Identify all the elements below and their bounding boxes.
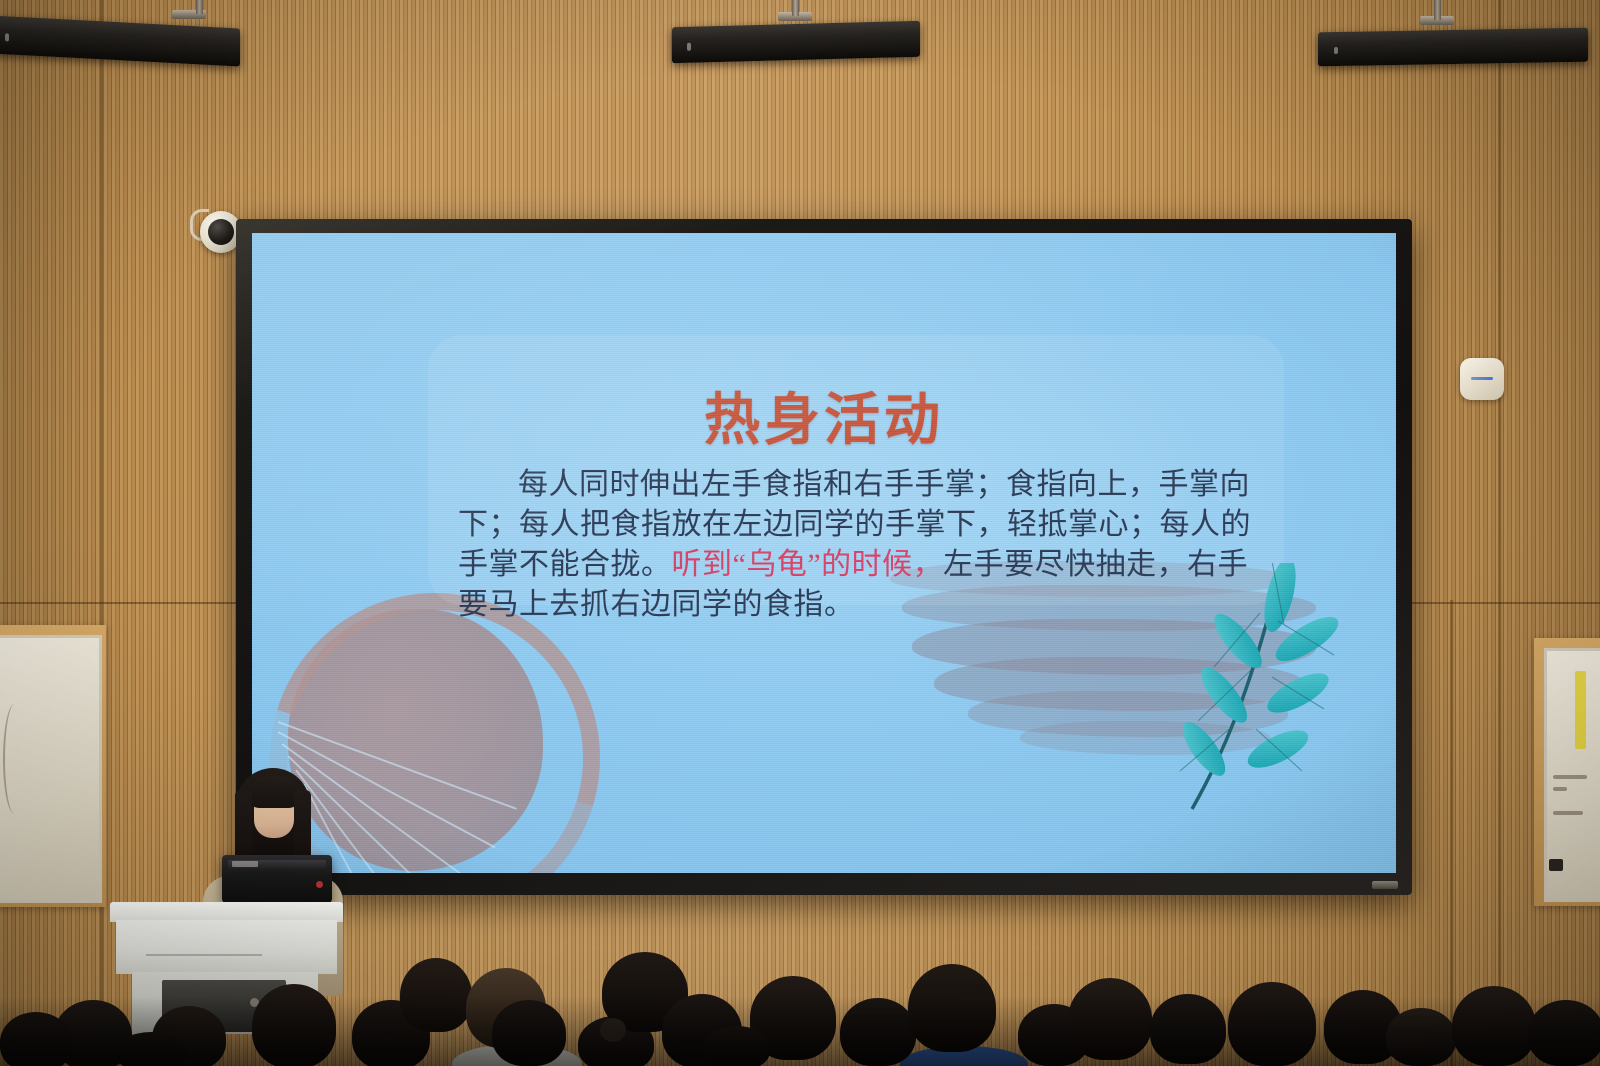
audience-head — [116, 1032, 186, 1066]
lecture-hall-photo: 热身活动 每人同时伸出左手食指和右手手掌；食指向上，手掌向下；每人把食指放在左边… — [0, 0, 1600, 1066]
whiteboard-left-surface — [0, 635, 102, 903]
projection-screen-bezel: 热身活动 每人同时伸出左手食指和右手手掌；食指向上，手掌向下；每人把食指放在左边… — [236, 219, 1412, 895]
lectern-panel-line — [146, 954, 262, 956]
audience-head — [1386, 1008, 1456, 1066]
audience-head — [0, 1012, 72, 1066]
audience-head — [704, 1026, 770, 1066]
poster-text-line — [1553, 775, 1587, 779]
slide-body-line-3c: 左手要尽快 — [943, 548, 1096, 581]
audience-head — [1150, 994, 1226, 1064]
poster-yellow-strip — [1575, 671, 1586, 749]
audience-head — [908, 964, 996, 1052]
audience-head — [840, 998, 916, 1066]
ceiling-light-right — [1318, 28, 1588, 67]
ceiling-rod-left — [196, 0, 203, 14]
slide-body-highlight: 听到“乌龟”的时候， — [672, 548, 944, 581]
ceiling-rod-center — [792, 0, 799, 16]
ceiling-rod-right — [1434, 0, 1441, 20]
slide-body-text: 每人同时伸出左手食指和右手手掌；食指向上，手掌向下；每人把食指放在左边同学的手掌… — [458, 465, 1270, 625]
framed-poster-surface — [1544, 648, 1600, 902]
wireless-access-point-icon — [1460, 358, 1504, 400]
whiteboard-marking — [3, 704, 31, 814]
slide-body-line-1: 每人同时伸出左手食指和右手手掌；食指向上，手 — [518, 468, 1189, 501]
wall-vertical-seam-right — [1498, 0, 1501, 1066]
presenter-hair-front — [248, 776, 300, 808]
poster-text-line — [1553, 787, 1567, 791]
lectern-top — [110, 902, 343, 922]
audience-head — [492, 1000, 566, 1066]
wall-vertical-seam-right2 — [1450, 600, 1453, 1066]
slide-title: 热身活动 — [252, 375, 1396, 456]
poster-tab — [1549, 859, 1563, 871]
whiteboard-left — [0, 625, 106, 907]
poster-text-line — [1553, 811, 1583, 815]
audience-head — [400, 958, 472, 1032]
framed-poster-right — [1534, 638, 1600, 906]
podium-monitor[interactable] — [222, 855, 332, 903]
ceiling-light-center — [672, 21, 920, 63]
lectern-body — [116, 920, 337, 974]
audience-hair-bun — [600, 1018, 626, 1042]
podium-monitor-logo — [232, 861, 258, 867]
audience-head — [252, 984, 336, 1066]
presentation-slide[interactable]: 热身活动 每人同时伸出左手食指和右手手掌；食指向上，手掌向下；每人把食指放在左边… — [252, 233, 1396, 873]
audience-head — [1528, 1000, 1600, 1066]
audience-head — [1228, 982, 1316, 1066]
audience-head — [1452, 986, 1536, 1066]
podium-monitor-led — [316, 881, 323, 888]
audience-head — [1068, 978, 1152, 1060]
